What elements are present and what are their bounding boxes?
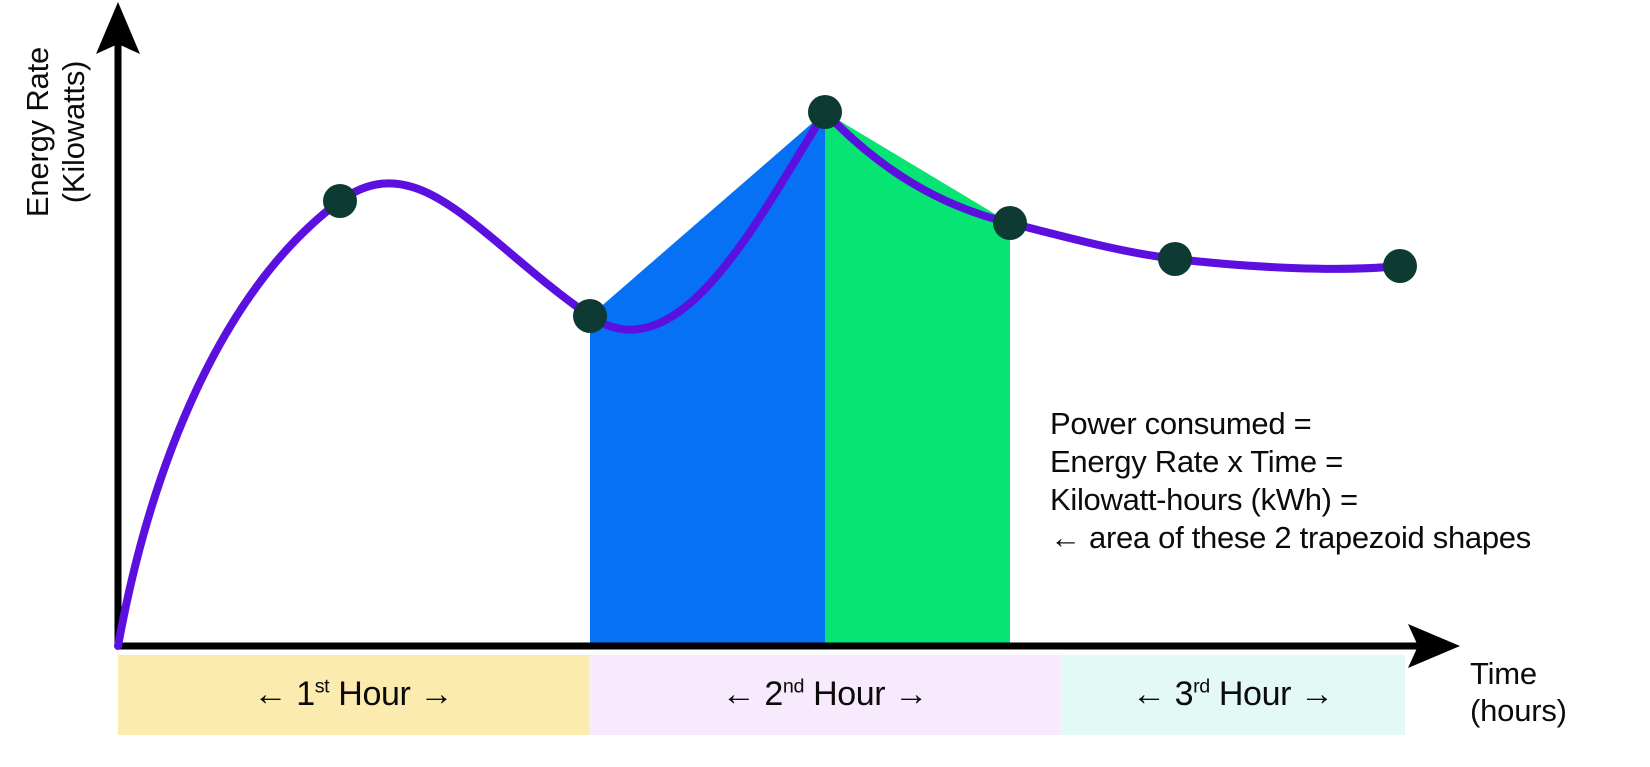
annotation-line-4: ← area of these 2 trapezoid shapes <box>1050 519 1531 557</box>
hour-band-3-word: Hour <box>1210 675 1300 713</box>
x-axis-label: Time (hours) <box>1470 655 1567 729</box>
trapezoid-area-green <box>825 112 1010 646</box>
hour-band-2-ordinal: nd <box>783 676 804 698</box>
hour-band-1-label: ← 1st Hour → <box>118 670 589 718</box>
hour-band-2-label: ← 2nd Hour → <box>589 670 1061 718</box>
hour-band-3-label: ← 3rd Hour → <box>1061 670 1405 718</box>
hour-band-1-arrow-right: → <box>419 675 453 713</box>
data-point-marker <box>993 206 1027 240</box>
hour-band-1-ordinal: st <box>315 676 330 698</box>
annotation-block: Power consumed = Energy Rate x Time = Ki… <box>1050 405 1531 557</box>
data-point-marker <box>1383 249 1417 283</box>
hour-band-1-number: 1 <box>296 675 315 713</box>
hour-band-1-word: Hour <box>329 675 419 713</box>
hour-band-2-arrow-right: → <box>894 675 928 713</box>
hour-band-1-arrow-left: ← <box>254 675 297 713</box>
hour-band-2-word: Hour <box>804 675 894 713</box>
energy-rate-chart: Energy Rate (Kilowatts) Time (hours) Pow… <box>0 0 1650 767</box>
annotation-line-3: Kilowatt-hours (kWh) = <box>1050 481 1531 519</box>
y-axis-label: Energy Rate (Kilowatts) <box>20 12 92 252</box>
hour-band-3-ordinal: rd <box>1193 676 1210 698</box>
hour-band-2-number: 2 <box>764 675 783 713</box>
annotation-line-2: Energy Rate x Time = <box>1050 443 1531 481</box>
data-point-marker <box>808 95 842 129</box>
data-point-marker <box>1158 242 1192 276</box>
data-point-marker <box>323 184 357 218</box>
hour-band-2-arrow-left: ← <box>722 675 765 713</box>
hour-band-3-number: 3 <box>1175 675 1194 713</box>
data-point-marker <box>573 299 607 333</box>
chart-canvas <box>0 0 1650 767</box>
trapezoid-area-blue <box>590 112 825 646</box>
annotation-line-1: Power consumed = <box>1050 405 1531 443</box>
hour-band-3-arrow-left: ← <box>1132 675 1175 713</box>
hour-band-3-arrow-right: → <box>1300 675 1334 713</box>
